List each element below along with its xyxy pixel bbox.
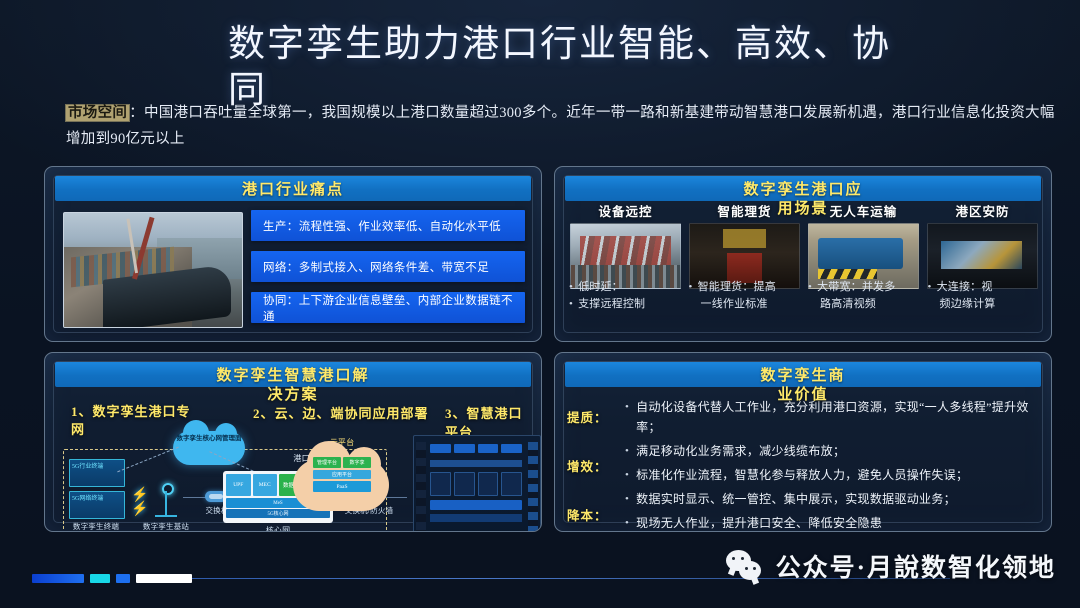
scenario-bullet: 低时延：: [578, 279, 623, 296]
scenario-bullet: 一线作业标准: [689, 296, 801, 313]
scenario-card: 智能理货: [690, 201, 799, 289]
scenario-bullet: 大带宽：并发多: [817, 279, 895, 296]
subtitle-text: ：中国港口吞吐量全球第一，我国规模以上港口数量超过300多个。近年一带一路和新基…: [66, 105, 1055, 147]
bullet-dot-icon: •: [625, 465, 629, 485]
value-item-text: 满足移动化业务需求，减少线缆布放；: [636, 441, 845, 461]
panel-solution: 数字孪生智慧港口解 决方案 1、数字孪生港口专网 2、云、边、端协同应用部署 3…: [44, 352, 542, 532]
scenario-bullet-group: •智能理货：提高 一线作业标准: [689, 279, 801, 313]
platform-left-nav: [416, 442, 426, 532]
scenario-bullet: 大连接：视: [937, 279, 993, 296]
scenario-bullet-group: •大带宽：并发多 路高清视频: [808, 279, 920, 313]
cloud-paas-layer: PaaS: [313, 481, 371, 492]
smart-port-platform-screenshot: [413, 435, 541, 532]
terminal-box-label: 5G行业终端: [72, 461, 103, 470]
subtitle-tag: 市场空间: [66, 105, 129, 121]
panel-pain-points: 港口行业痛点 生产：流程性强、作业效率低、自动化水平低 网络：多制式接入、网络条…: [44, 166, 542, 342]
value-label-cost: 降本：: [567, 505, 625, 524]
bullet-dot-icon: •: [625, 513, 629, 532]
footer-segment: [32, 574, 84, 583]
bullet-dot-icon: •: [625, 489, 629, 509]
value-item: •标准化作业流程，智慧化参与释放人力，避免人员操作失误；: [625, 465, 1037, 485]
signal-bolt-icon: ⚡: [131, 501, 148, 518]
platform-row: [430, 500, 522, 510]
value-heading-text: 数字孪生商: [760, 364, 845, 385]
slide-root: 数字孪生助力港口行业智能、高效、协同 市场空间：中国港口吞吐量全球第一，我国规模…: [0, 0, 1080, 608]
scenario-title: 无人车运输: [830, 201, 898, 220]
terminal-label: 数字孪生终端: [65, 521, 127, 532]
solution-diagram: 1、数字孪生港口专网 2、云、边、端协同应用部署 3、智慧港口平台 港口用户内网…: [55, 401, 531, 523]
terminal-box-5g-network: 5G网络终端: [69, 491, 125, 519]
bullet-dot-icon: •: [928, 279, 932, 296]
core-fn-upf: UPF: [226, 474, 251, 496]
panel-scenarios: 数字孪生港口应 用场景 设备远控 智能理货 无人车运输 港区安防 •低: [554, 166, 1052, 342]
value-label-efficiency: 增效：: [567, 456, 625, 475]
value-item: •自动化设备代替人工作业，充分利用港口资源，实现“一人多线程”提升效率；: [625, 397, 1037, 437]
value-item: •数据实时显示、统一管控、集中展示，实现数据驱动业务；: [625, 489, 1037, 509]
pain-point-item: 生产：流程性强、作业效率低、自动化水平低: [251, 210, 525, 241]
platform-row: [430, 460, 522, 467]
value-item-text: 自动化设备代替人工作业，充分利用港口资源，实现“一人多线程”提升效率；: [636, 397, 1037, 437]
scenario-card: 无人车运输: [809, 201, 918, 289]
scenario-title: 智能理货: [717, 201, 771, 220]
value-item-text: 现场无人作业，提升港口安全、降低安全隐患: [636, 513, 882, 532]
footer-segment: [136, 574, 192, 583]
pain-points-header: 港口行业痛点: [55, 176, 531, 201]
scenario-card: 港区安防: [928, 201, 1037, 289]
scenarios-heading-text: 数字孪生港口应: [743, 178, 862, 199]
base-station-tower-icon: [151, 483, 181, 517]
platform-row: [430, 444, 522, 453]
terminal-box-5g-industry: 5G行业终端: [69, 459, 125, 487]
core-network-label: 核心网: [243, 525, 313, 532]
solution-heading-text: 数字孪生智慧港口解: [216, 364, 369, 385]
platform-row: [430, 514, 522, 522]
scenario-bullet: 频边缘计算: [928, 296, 1040, 313]
page-subtitle: 市场空间：中国港口吞吐量全球第一，我国规模以上港口数量超过300多个。近年一带一…: [66, 100, 1056, 152]
pain-point-item: 协同：上下游企业信息壁垒、内部企业数据链不通: [251, 292, 525, 323]
core-fn-mec: MEC: [253, 474, 278, 496]
value-items-list: •自动化设备代替人工作业，充分利用港口资源，实现“一人多线程”提升效率； •满足…: [625, 397, 1037, 532]
tower-signal-icon: [162, 483, 174, 495]
cloud-digital-twin: 数字孪: [343, 457, 371, 468]
wechat-icon: [726, 550, 766, 582]
bullet-dot-icon: •: [569, 296, 573, 313]
bullet-dot-icon: •: [808, 279, 812, 296]
bullet-dot-icon: •: [569, 279, 573, 296]
cloud-platform-stack: 管理平台 数字孪 应用平台 PaaS: [313, 457, 371, 492]
scenario-bullet: 智能理货：提高: [698, 279, 776, 296]
footer-segment: [90, 574, 110, 583]
terminal-box-label: 5G网络终端: [72, 493, 103, 502]
pain-point-item: 网络：多制式接入、网络条件差、带宽不足: [251, 251, 525, 282]
port-photo: [63, 212, 243, 328]
platform-row: [430, 472, 522, 496]
value-category-labels: 提质： 增效： 降本：: [567, 403, 625, 524]
bullet-dot-icon: •: [625, 441, 629, 461]
bullet-dot-icon: •: [689, 279, 693, 296]
pain-points-list: 生产：流程性强、作业效率低、自动化水平低 网络：多制式接入、网络条件差、带宽不足…: [251, 210, 525, 333]
cloud-mgmt-platform: 管理平台: [313, 457, 341, 468]
watermark-text: 公众号·月說数智化领地: [776, 548, 1056, 584]
scenario-title: 设备远控: [598, 201, 652, 220]
footer-segment: [116, 574, 130, 583]
scenario-card-grid: 设备远控 智能理货 无人车运输 港区安防: [571, 201, 1037, 289]
value-label-quality: 提质：: [567, 407, 625, 426]
value-item-text: 数据实时显示、统一管控、集中展示，实现数据驱动业务；: [636, 489, 956, 509]
scenario-bullet-group: •低时延： •支撑远程控制: [569, 279, 681, 313]
solution-step-label: 2、云、边、端协同应用部署: [253, 403, 429, 422]
platform-right-rail: [528, 442, 538, 532]
scenario-bullet: 路高清视频: [808, 296, 920, 313]
core-cloud-label: 数字孪生核心网管理面: [173, 435, 245, 443]
scenario-card: 设备远控: [571, 201, 680, 289]
scenario-bullet-group: •大连接：视 频边缘计算: [928, 279, 1040, 313]
pain-points-heading-text: 港口行业痛点: [242, 178, 344, 199]
value-item-text: 标准化作业流程，智慧化参与释放人力，避免人员操作失误；: [636, 465, 968, 485]
base-station-label: 数字孪生基站: [135, 521, 197, 532]
scenario-title: 港区安防: [955, 201, 1009, 220]
cloud-app-platform: 应用平台: [313, 470, 371, 479]
value-header: 数字孪生商: [565, 362, 1041, 387]
watermark: 公众号·月說数智化领地: [726, 548, 1056, 584]
core-network-cloud-icon: 数字孪生核心网管理面: [173, 431, 245, 465]
panel-business-value: 数字孪生商 业价值 提质： 增效： 降本： •自动化设备代替人工作业，充分利用港…: [554, 352, 1052, 532]
value-item: •满足移动化业务需求，减少线缆布放；: [625, 441, 1037, 461]
solution-header: 数字孪生智慧港口解: [55, 362, 531, 387]
scenario-bullet: 支撑远程控制: [578, 296, 645, 313]
bullet-dot-icon: •: [625, 397, 629, 437]
scenarios-header: 数字孪生港口应: [565, 176, 1041, 201]
value-item: •现场无人作业，提升港口安全、降低安全隐患: [625, 513, 1037, 532]
scenario-bullets: •低时延： •支撑远程控制 •智能理货：提高 一线作业标准 •大带宽：并发多 路…: [569, 279, 1039, 313]
